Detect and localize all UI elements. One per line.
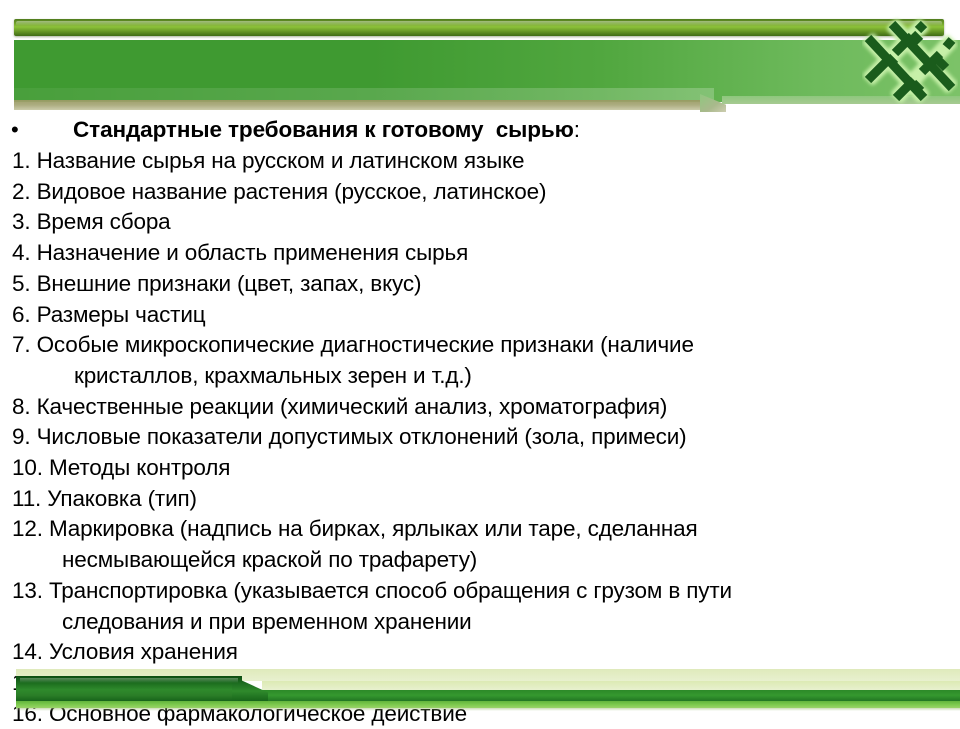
list-item-text: Качественные реакции (химический анализ,… bbox=[37, 394, 668, 419]
list-item-number: 9. bbox=[12, 424, 30, 449]
list-item-text: Внешние признаки (цвет, запах, вкус) bbox=[37, 271, 422, 296]
list-item-number: 12. bbox=[12, 516, 43, 541]
list-item-continuation: следования и при временном хранении bbox=[12, 607, 960, 638]
list-item-text: Методы контроля bbox=[49, 455, 230, 480]
footer-lime-line bbox=[16, 701, 960, 708]
list-item: 9. Числовые показатели допустимых отклон… bbox=[0, 422, 960, 453]
list-item-number: 4. bbox=[12, 240, 30, 265]
list-item-text: Маркировка (надпись на бирках, ярлыках и… bbox=[49, 516, 698, 541]
list-item-text: Назначение и область применения сырья bbox=[37, 240, 469, 265]
braided-interlace-logo bbox=[862, 14, 958, 104]
list-item-text: Упаковка (тип) bbox=[47, 486, 197, 511]
list-item: 13. Транспортировка (указывается способ … bbox=[0, 576, 960, 637]
list-item-text: Транспортировка (указывается способ обра… bbox=[49, 578, 732, 603]
list-item-continuation: несмывающейся краской по трафарету) bbox=[12, 545, 960, 576]
list-item: 6. Размеры частиц bbox=[0, 300, 960, 331]
header-top-pill-gloss bbox=[16, 21, 942, 26]
list-item-continuation: кристаллов, крахмальных зерен и т.д.) bbox=[12, 361, 960, 392]
list-item: 5. Внешние признаки (цвет, запах, вкус) bbox=[0, 269, 960, 300]
list-item: 4. Назначение и область применения сырья bbox=[0, 238, 960, 269]
requirements-list: 1. Название сырья на русском и латинском… bbox=[0, 146, 960, 729]
header-white-gap bbox=[0, 36, 960, 40]
list-item: 2. Видовое название растения (русское, л… bbox=[0, 177, 960, 208]
header-top-pill-bar bbox=[14, 19, 944, 36]
list-item-text: Видовое название растения (русское, лати… bbox=[37, 179, 547, 204]
slide-footer bbox=[0, 656, 960, 720]
list-item: 7. Особые микроскопические диагностическ… bbox=[0, 330, 960, 391]
list-item-text: Размеры частиц bbox=[37, 302, 206, 327]
list-item-text: Время сбора bbox=[37, 209, 171, 234]
list-item-number: 13. bbox=[12, 578, 43, 603]
slide-content: • Стандартные требования к готовому сырь… bbox=[0, 114, 960, 729]
list-item-text: Особые микроскопические диагностические … bbox=[37, 332, 694, 357]
list-item: 1. Название сырья на русском и латинском… bbox=[0, 146, 960, 177]
footer-lime-shadow bbox=[16, 708, 960, 711]
list-item: 8. Качественные реакции (химический анал… bbox=[0, 392, 960, 423]
title-bullet-icon: • bbox=[11, 114, 19, 146]
title-colon: : bbox=[574, 117, 580, 142]
list-item: 10. Методы контроля bbox=[0, 453, 960, 484]
list-item-number: 8. bbox=[12, 394, 30, 419]
list-item-number: 11. bbox=[12, 486, 41, 511]
list-item: 12. Маркировка (надпись на бирках, ярлык… bbox=[0, 514, 960, 575]
list-item-text: Название сырья на русском и латинском яз… bbox=[37, 148, 525, 173]
slide-header bbox=[0, 0, 960, 112]
list-item-number: 10. bbox=[12, 455, 43, 480]
page-title: Стандартные требования к готовому сырью: bbox=[73, 114, 580, 146]
header-bottom-shadow-left bbox=[14, 100, 714, 110]
slide-title-line: • Стандартные требования к готовому сырь… bbox=[0, 114, 960, 146]
list-item-number: 3. bbox=[12, 209, 30, 234]
list-item-number: 6. bbox=[12, 302, 30, 327]
list-item: 11. Упаковка (тип) bbox=[0, 484, 960, 515]
list-item: 3. Время сбора bbox=[0, 207, 960, 238]
footer-bar-gloss bbox=[20, 678, 238, 683]
list-item-number: 5. bbox=[12, 271, 30, 296]
header-band-gloss bbox=[14, 88, 714, 100]
list-item-text: Числовые показатели допустимых отклонени… bbox=[37, 424, 687, 449]
list-item-number: 7. bbox=[12, 332, 30, 357]
